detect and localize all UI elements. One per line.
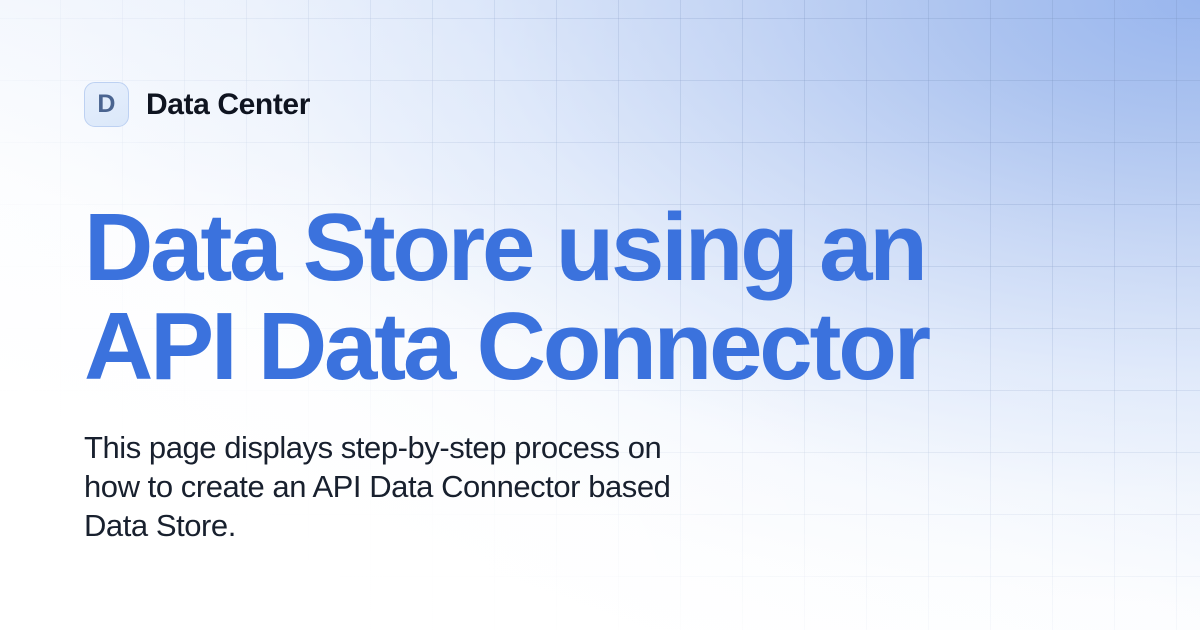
page-title: Data Store using an API Data Connector bbox=[84, 198, 1024, 396]
page-description-line-2: how to create an API Data Connector base… bbox=[84, 467, 874, 506]
hero-content: D Data Center Data Store using an API Da… bbox=[84, 0, 1084, 630]
page-description-line-3: Data Store. bbox=[84, 506, 874, 545]
page-description-line-1: This page displays step-by-step process … bbox=[84, 428, 874, 467]
letter-d-badge-icon: D bbox=[84, 82, 129, 127]
hero-banner: D Data Center Data Store using an API Da… bbox=[0, 0, 1200, 630]
brand-name: Data Center bbox=[146, 88, 310, 122]
page-title-line-1: Data Store using an bbox=[84, 198, 1024, 297]
brand-lockup: D Data Center bbox=[84, 82, 310, 127]
page-title-line-2: API Data Connector bbox=[84, 297, 1024, 396]
page-description: This page displays step-by-step process … bbox=[84, 428, 874, 545]
